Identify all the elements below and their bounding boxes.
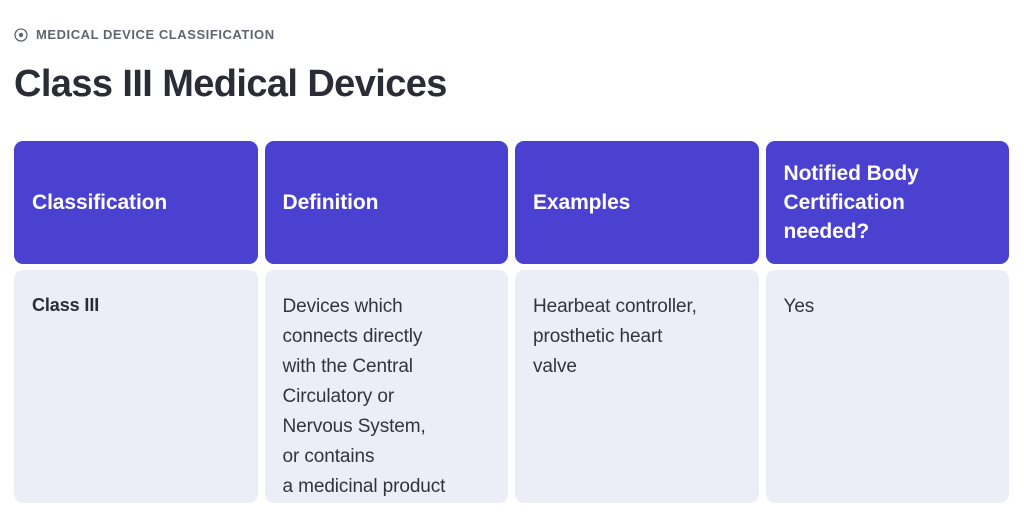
table-cell-notified-body-certification: Yes	[766, 270, 1010, 503]
header-label: Examples	[533, 188, 741, 217]
cell-value-notified-body-certification: Yes	[784, 296, 815, 317]
table-header-cell-classification: Classification	[14, 141, 258, 264]
target-dot-icon	[14, 28, 28, 42]
eyebrow-label: MEDICAL DEVICE CLASSIFICATION	[36, 28, 275, 42]
table-header-row: Classification Definition Examples Notif…	[14, 141, 1009, 264]
page-title: Class III Medical Devices	[14, 60, 447, 108]
eyebrow: MEDICAL DEVICE CLASSIFICATION	[14, 26, 275, 44]
cell-value-examples: Hearbeat controller, prosthetic heart va…	[533, 296, 697, 377]
table-cell-examples: Hearbeat controller, prosthetic heart va…	[515, 270, 759, 503]
header-label: Classification	[32, 188, 240, 217]
cell-value-definition: Devices which connects directly with the…	[283, 296, 446, 497]
cell-value-classification: Class III	[32, 295, 99, 315]
header-label: Definition	[283, 188, 491, 217]
slide-root: MEDICAL DEVICE CLASSIFICATION Class III …	[0, 0, 1024, 517]
table-header-cell-definition: Definition	[265, 141, 509, 264]
table-row: Class III Devices which connects directl…	[14, 270, 1009, 503]
header-label: Notified Body Certification needed?	[784, 159, 992, 246]
table-header-cell-examples: Examples	[515, 141, 759, 264]
table-cell-definition: Devices which connects directly with the…	[265, 270, 509, 503]
classification-table: Classification Definition Examples Notif…	[14, 141, 1009, 503]
table-cell-classification: Class III	[14, 270, 258, 503]
table-header-cell-notified-body-certification: Notified Body Certification needed?	[766, 141, 1010, 264]
